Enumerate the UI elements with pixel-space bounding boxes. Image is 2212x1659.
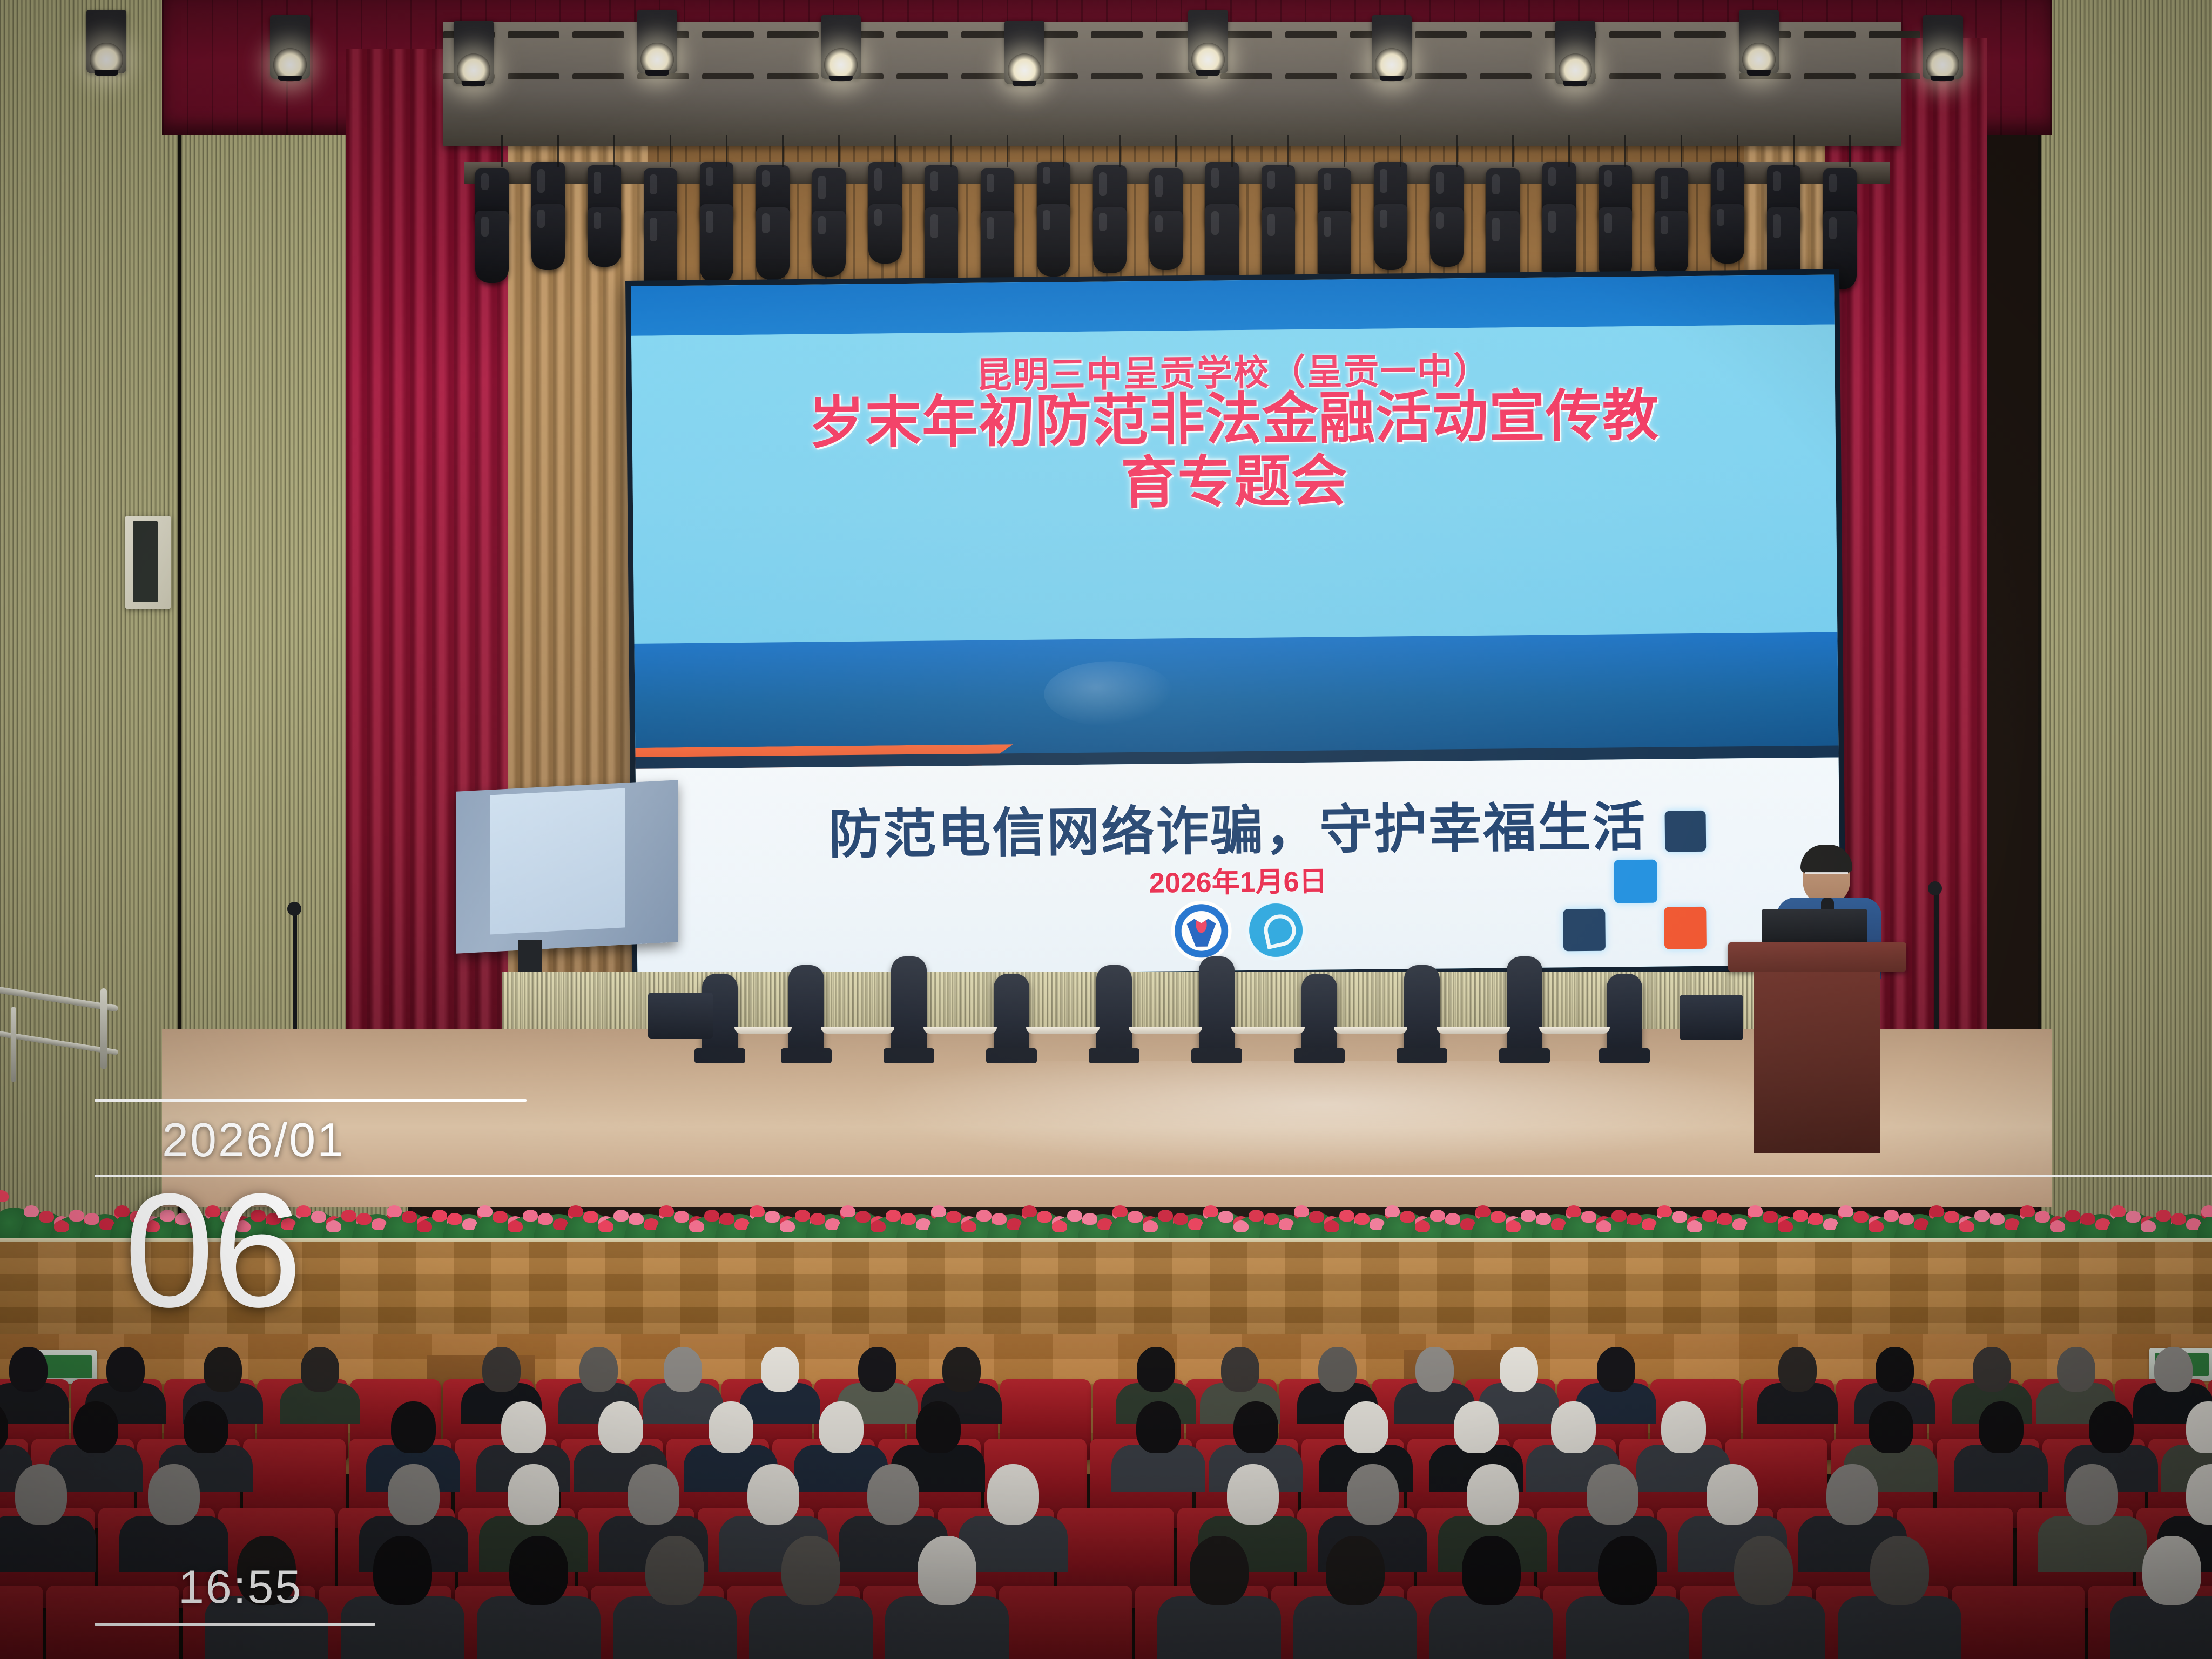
flower-bloom bbox=[54, 1220, 69, 1232]
watermark-rule-top bbox=[95, 1099, 527, 1102]
flower-bloom bbox=[1203, 1205, 1218, 1217]
flower-bloom bbox=[1793, 1210, 1808, 1222]
flower-bloom bbox=[1899, 1213, 1914, 1225]
flower-bloom bbox=[1959, 1220, 1974, 1232]
audience-shoulders bbox=[1429, 1596, 1553, 1659]
flower-bloom bbox=[1611, 1210, 1627, 1222]
audience-head bbox=[391, 1401, 436, 1453]
floor-moving-light bbox=[1096, 965, 1132, 1055]
audience-head bbox=[501, 1401, 546, 1453]
flower-bloom bbox=[493, 1211, 508, 1223]
audience-shoulders bbox=[885, 1596, 1009, 1659]
audience-head bbox=[1661, 1401, 1706, 1453]
stage-monitor-speaker bbox=[648, 993, 713, 1039]
audience-head bbox=[1318, 1347, 1357, 1392]
flower-bloom bbox=[961, 1220, 976, 1232]
audience-head bbox=[2154, 1347, 2193, 1392]
audience-head bbox=[1876, 1347, 1914, 1392]
audience-head bbox=[1707, 1464, 1758, 1525]
audience-head bbox=[1233, 1401, 1278, 1453]
audience-head bbox=[1467, 1464, 1519, 1525]
flower-bloom bbox=[840, 1205, 855, 1217]
flower-bloom bbox=[1475, 1205, 1491, 1217]
flower-bloom bbox=[2080, 1213, 2095, 1225]
flower-bloom bbox=[1037, 1211, 1052, 1223]
stage-power-cable bbox=[1231, 1027, 1305, 1034]
flower-bloom bbox=[1929, 1205, 1944, 1217]
audience-head bbox=[148, 1464, 200, 1525]
seat bbox=[0, 1586, 43, 1659]
flower-bloom bbox=[598, 1220, 613, 1232]
podium-top-surface bbox=[1728, 942, 1906, 972]
flower-bloom bbox=[2110, 1205, 2126, 1217]
flower-bloom bbox=[1294, 1205, 1309, 1217]
audience-head bbox=[1190, 1536, 1249, 1605]
flower-bloom bbox=[477, 1205, 493, 1217]
flower-bloom bbox=[1128, 1211, 1143, 1223]
audience-head bbox=[709, 1401, 753, 1453]
audience-head bbox=[15, 1464, 67, 1525]
audience-shoulders bbox=[1838, 1596, 1961, 1659]
flower-bloom bbox=[1339, 1210, 1354, 1222]
flower-bloom bbox=[976, 1210, 992, 1222]
flower-bloom bbox=[1763, 1211, 1778, 1223]
watermark-time: 16:55 bbox=[178, 1561, 302, 1614]
flower-bloom bbox=[931, 1205, 946, 1217]
seat bbox=[1952, 1586, 2085, 1659]
flower-bloom bbox=[1672, 1211, 1687, 1223]
flower-bloom bbox=[1309, 1211, 1324, 1223]
audience-head bbox=[1598, 1536, 1657, 1605]
audience-head bbox=[628, 1464, 679, 1525]
flower-bloom bbox=[1112, 1205, 1128, 1217]
audience-head bbox=[819, 1401, 864, 1453]
stage-power-cable bbox=[734, 1027, 792, 1034]
floor-moving-light bbox=[1199, 956, 1235, 1055]
flower-bloom bbox=[2141, 1220, 2156, 1232]
audience-head bbox=[388, 1464, 440, 1525]
audience-head bbox=[916, 1401, 961, 1453]
audience-head bbox=[664, 1347, 702, 1392]
flower-bloom bbox=[1158, 1210, 1173, 1222]
flower-bloom bbox=[39, 1211, 54, 1223]
flower-bloom bbox=[1581, 1211, 1596, 1223]
audience-shoulders bbox=[1157, 1596, 1281, 1659]
flower-bloom bbox=[311, 1211, 326, 1223]
flower-bloom bbox=[326, 1220, 341, 1232]
flower-bloom bbox=[1354, 1213, 1370, 1225]
podium-column bbox=[1754, 972, 1880, 1153]
flower-bloom bbox=[1218, 1211, 1233, 1223]
flower-bloom bbox=[1445, 1213, 1460, 1225]
flower-bloom bbox=[1884, 1210, 1899, 1222]
flower-bloom bbox=[674, 1211, 689, 1223]
audience-head bbox=[1500, 1347, 1538, 1392]
audience-shoulders bbox=[749, 1596, 873, 1659]
flower-bloom bbox=[1808, 1213, 1823, 1225]
audience-head bbox=[1326, 1536, 1385, 1605]
flower-bloom bbox=[1990, 1213, 2005, 1225]
audience-head bbox=[645, 1536, 704, 1605]
audience-head bbox=[106, 1347, 145, 1392]
flower-bloom bbox=[538, 1213, 553, 1225]
audience-head bbox=[1344, 1401, 1388, 1453]
flower-bloom bbox=[583, 1211, 598, 1223]
flower-bloom bbox=[2020, 1205, 2035, 1217]
floor-moving-light bbox=[1404, 965, 1440, 1055]
flower-bloom bbox=[1536, 1213, 1551, 1225]
audience-head bbox=[1221, 1347, 1259, 1392]
flower-bloom bbox=[1566, 1205, 1581, 1217]
seat bbox=[999, 1586, 1132, 1659]
audience-head bbox=[1551, 1401, 1596, 1453]
audience-head bbox=[508, 1464, 559, 1525]
flower-bloom bbox=[523, 1210, 538, 1222]
flower-bloom bbox=[69, 1210, 84, 1222]
flower-bloom bbox=[387, 1205, 402, 1217]
audience-head bbox=[761, 1347, 799, 1392]
flower-bloom bbox=[1324, 1220, 1339, 1232]
flower-bloom bbox=[1687, 1220, 1702, 1232]
audience-head bbox=[1979, 1401, 2024, 1453]
stage-power-cable bbox=[821, 1027, 894, 1034]
flower-bloom bbox=[1717, 1213, 1732, 1225]
flower-bloom bbox=[901, 1213, 916, 1225]
flower-bloom bbox=[719, 1213, 734, 1225]
flower-bloom bbox=[2126, 1211, 2141, 1223]
audience-head bbox=[1734, 1536, 1793, 1605]
audience-head bbox=[1973, 1347, 2011, 1392]
flower-bloom bbox=[810, 1213, 825, 1225]
audience-head bbox=[987, 1464, 1039, 1525]
audience-head bbox=[2066, 1464, 2118, 1525]
audience-head bbox=[867, 1464, 919, 1525]
audience-head bbox=[1454, 1401, 1499, 1453]
audience-head bbox=[1869, 1401, 1913, 1453]
audience-head bbox=[73, 1401, 118, 1453]
audience-head bbox=[1347, 1464, 1399, 1525]
floor-moving-light bbox=[1607, 974, 1642, 1055]
audience-head bbox=[9, 1347, 48, 1392]
flower-bloom bbox=[1491, 1211, 1506, 1223]
flower-bloom bbox=[1627, 1213, 1642, 1225]
watermark-rule-mid bbox=[95, 1175, 2212, 1177]
audience-head bbox=[2142, 1536, 2201, 1605]
audience-head bbox=[747, 1464, 799, 1525]
audience-head bbox=[1587, 1464, 1638, 1525]
seat bbox=[46, 1586, 179, 1659]
flower-bloom bbox=[402, 1211, 417, 1223]
audience-head bbox=[858, 1347, 896, 1392]
audience-head bbox=[184, 1401, 228, 1453]
flower-bloom bbox=[1264, 1213, 1279, 1225]
audience-shoulders bbox=[1293, 1596, 1417, 1659]
stage-power-cable bbox=[1539, 1027, 1610, 1034]
flower-bloom bbox=[689, 1220, 704, 1232]
audience-head bbox=[204, 1347, 242, 1392]
audience-head bbox=[579, 1347, 618, 1392]
audience-head bbox=[781, 1536, 840, 1605]
flower-bloom bbox=[508, 1220, 523, 1232]
flower-bloom bbox=[1778, 1220, 1793, 1232]
flower-bloom bbox=[780, 1220, 795, 1232]
audience-head bbox=[482, 1347, 521, 1392]
floor-moving-light bbox=[994, 974, 1029, 1055]
floor-moving-light bbox=[891, 956, 927, 1055]
flower-bloom bbox=[84, 1213, 99, 1225]
audience-shoulders bbox=[613, 1596, 737, 1659]
audience-head bbox=[942, 1347, 981, 1392]
flower-bloom bbox=[2156, 1210, 2171, 1222]
flower-bloom bbox=[886, 1210, 901, 1222]
flower-bloom bbox=[1974, 1210, 1990, 1222]
flower-bloom bbox=[1022, 1205, 1037, 1217]
stage-power-cable bbox=[1026, 1027, 1100, 1034]
audience-shoulders bbox=[2110, 1596, 2212, 1659]
watermark-day: 06 bbox=[124, 1177, 300, 1323]
flower-bloom bbox=[1748, 1205, 1763, 1217]
audience-head bbox=[373, 1536, 432, 1605]
audience-head bbox=[918, 1536, 976, 1605]
audience-head bbox=[1415, 1347, 1454, 1392]
flower-bloom bbox=[1521, 1210, 1536, 1222]
stage-power-cable bbox=[1334, 1027, 1407, 1034]
stage-power-cable bbox=[1129, 1027, 1202, 1034]
flower-bloom bbox=[946, 1211, 961, 1223]
flower-bloom bbox=[1052, 1220, 1067, 1232]
flower-bloom bbox=[871, 1220, 886, 1232]
audience-head bbox=[1826, 1464, 1878, 1525]
flower-bloom bbox=[629, 1213, 644, 1225]
floor-moving-light bbox=[1507, 956, 1542, 1055]
flower-bloom bbox=[1506, 1220, 1521, 1232]
flower-bloom bbox=[356, 1213, 372, 1225]
flower-bloom bbox=[1838, 1205, 1853, 1217]
flower-bloom bbox=[1173, 1213, 1188, 1225]
flower-bloom bbox=[659, 1205, 674, 1217]
flower-bloom bbox=[2050, 1220, 2065, 1232]
flower-bloom bbox=[417, 1220, 432, 1232]
flower-bloom bbox=[568, 1205, 583, 1217]
flower-bloom bbox=[992, 1213, 1007, 1225]
flower-bloom bbox=[1233, 1220, 1249, 1232]
audience-head bbox=[1462, 1536, 1521, 1605]
flower-bloom bbox=[1415, 1220, 1430, 1232]
audience-shoulders bbox=[1566, 1596, 1689, 1659]
wooden-podium bbox=[1728, 942, 1906, 1153]
audience-head bbox=[2057, 1347, 2095, 1392]
seated-audience bbox=[0, 1382, 2212, 1659]
flower-bloom bbox=[1702, 1210, 1717, 1222]
audience-head bbox=[301, 1347, 339, 1392]
flower-bloom bbox=[1067, 1210, 1082, 1222]
flower-bloom bbox=[750, 1205, 765, 1217]
flower-bloom bbox=[341, 1210, 356, 1222]
audience-head bbox=[509, 1536, 568, 1605]
audience-head bbox=[1136, 1401, 1181, 1453]
flower-bloom bbox=[447, 1213, 462, 1225]
audience-shoulders bbox=[1702, 1596, 1825, 1659]
presenter-hair bbox=[1800, 845, 1852, 873]
watermark-rule-bottom bbox=[95, 1623, 375, 1626]
flower-bloom bbox=[795, 1210, 810, 1222]
flower-bloom bbox=[1944, 1211, 1959, 1223]
flower-bloom bbox=[1596, 1220, 1611, 1232]
audience-shoulders bbox=[341, 1596, 464, 1659]
flower-bloom bbox=[2035, 1211, 2050, 1223]
flower-bloom bbox=[2065, 1210, 2080, 1222]
flower-bloom bbox=[1385, 1205, 1400, 1217]
flower-bloom bbox=[1400, 1211, 1415, 1223]
flower-bloom bbox=[1657, 1205, 1672, 1217]
photo-canvas: 昆明三中呈贡学校（呈贡一中） 岁末年初防范非法金融活动宣传教 育专题会 防范电信… bbox=[0, 0, 2212, 1659]
flower-bloom bbox=[9, 1196, 24, 1208]
flower-bloom bbox=[1082, 1213, 1097, 1225]
audience-head bbox=[598, 1401, 643, 1453]
flower-bloom bbox=[1249, 1210, 1264, 1222]
presenter-glasses bbox=[1805, 872, 1848, 882]
flower-bloom bbox=[1869, 1220, 1884, 1232]
flower-bloom bbox=[432, 1210, 447, 1222]
floor-moving-light bbox=[788, 965, 824, 1055]
flower-bloom bbox=[2171, 1213, 2186, 1225]
flower-bloom bbox=[24, 1205, 39, 1217]
flower-bloom bbox=[2201, 1205, 2212, 1217]
flower-bloom bbox=[1853, 1211, 1869, 1223]
flower-bloom bbox=[704, 1210, 719, 1222]
audience-head bbox=[1137, 1347, 1175, 1392]
flower-bloom bbox=[1430, 1210, 1445, 1222]
flower-bloom bbox=[613, 1210, 629, 1222]
stage-power-cable bbox=[1437, 1027, 1510, 1034]
audience-head bbox=[1778, 1347, 1817, 1392]
audience-head bbox=[1597, 1347, 1635, 1392]
floor-moving-light bbox=[1301, 974, 1337, 1055]
flower-bloom bbox=[855, 1211, 871, 1223]
audience-head bbox=[1870, 1536, 1929, 1605]
stage-power-cable bbox=[923, 1027, 997, 1034]
audience-shoulders bbox=[477, 1596, 601, 1659]
audience-head bbox=[1227, 1464, 1279, 1525]
audience-head bbox=[2089, 1401, 2134, 1453]
podium-laptop bbox=[1762, 909, 1867, 945]
flower-bloom bbox=[1143, 1220, 1158, 1232]
flower-bloom bbox=[765, 1211, 780, 1223]
